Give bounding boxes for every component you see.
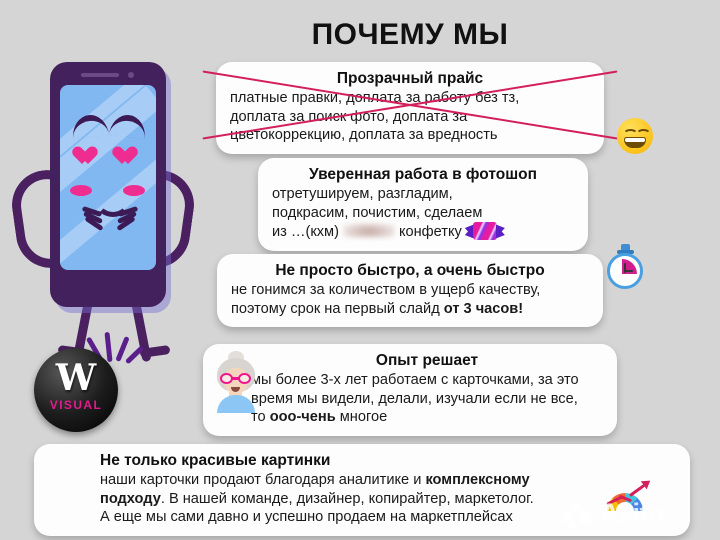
mascot-hand-left bbox=[82, 207, 108, 231]
benefit-card-speed[interactable]: Не просто быстро, а очень быстро не гони… bbox=[217, 254, 603, 327]
card-heading: Не просто быстро, а очень быстро bbox=[231, 261, 589, 280]
card-line-suffix: конфетку bbox=[399, 224, 462, 240]
phone-screen bbox=[60, 85, 156, 270]
old-woman-icon bbox=[213, 354, 259, 410]
card-line: время мы видели, делали, изучали если не… bbox=[251, 390, 603, 409]
mascot-smartphone-character bbox=[18, 52, 218, 352]
card-line: цветокоррекцию, доплата за вредность bbox=[230, 126, 590, 145]
censored-blur-icon bbox=[343, 223, 395, 238]
card-heading: Опыт решает bbox=[251, 351, 603, 370]
card-line-plain: . В нашей команде, дизайнер, копирайтер,… bbox=[161, 491, 534, 507]
card-line: наши карточки продают благодаря аналитик… bbox=[100, 471, 676, 490]
card-line-plain: поэтому срок на первый слайд bbox=[231, 301, 444, 317]
card-line-suffix: многое bbox=[336, 409, 388, 425]
infographic-stage: ПОЧЕМУ МЫ bbox=[0, 0, 720, 540]
card-line-prefix: из …(кхм) bbox=[272, 224, 339, 240]
card-line: поэтому срок на первый слайд от 3 часов! bbox=[231, 300, 589, 319]
avito-wordmark: Avito bbox=[600, 498, 664, 529]
card-line: платные правки, доплата за работу без тз… bbox=[230, 89, 590, 108]
heart-eye-icon bbox=[77, 147, 98, 166]
card-line: не гонимся за количеством в ущерб качест… bbox=[231, 281, 589, 300]
benefit-card-photoshop[interactable]: Уверенная работа в фотошоп отретушируем,… bbox=[258, 158, 588, 251]
mascot-phone-body bbox=[50, 62, 166, 307]
page-title: ПОЧЕМУ МЫ bbox=[250, 18, 570, 52]
card-heading: Прозрачный прайс bbox=[230, 69, 590, 88]
card-line: подкрасим, почистим, сделаем bbox=[272, 204, 574, 223]
card-line: мы более 3-х лет работаем с карточками, … bbox=[251, 371, 603, 390]
logo-monogram: W bbox=[34, 360, 118, 396]
card-line-plain: наши карточки продают благодаря аналитик… bbox=[100, 472, 425, 488]
card-heading: Не только красивые картинки bbox=[100, 451, 676, 470]
candy-icon bbox=[465, 222, 505, 240]
card-line: доплата за поиск фото, доплата за bbox=[230, 108, 590, 127]
card-line-highlight: от 3 часов! bbox=[444, 301, 523, 317]
heart-eye-icon bbox=[117, 147, 138, 166]
phone-camera-dot bbox=[128, 72, 134, 78]
benefit-card-transparent-price[interactable]: Прозрачный прайс платные правки, доплата… bbox=[216, 62, 604, 154]
card-heading: Уверенная работа в фотошоп bbox=[272, 165, 574, 184]
card-line-highlight: подходу bbox=[100, 491, 161, 507]
mascot-blush-left bbox=[70, 185, 92, 196]
card-line-censored: из …(кхм)конфетку bbox=[272, 222, 574, 242]
brand-logo-badge[interactable]: W VISUAL bbox=[34, 348, 118, 432]
logo-wordmark: VISUAL bbox=[34, 398, 118, 412]
stopwatch-icon bbox=[605, 244, 645, 290]
card-line: отретушируем, разгладим, bbox=[272, 185, 574, 204]
mascot-hand-right bbox=[112, 207, 138, 231]
avito-watermark: Avito bbox=[562, 496, 712, 536]
phone-speaker bbox=[81, 73, 119, 77]
card-line-highlight: ооо-чень bbox=[270, 409, 336, 425]
avito-dots-icon bbox=[562, 502, 602, 530]
benefit-card-experience[interactable]: Опыт решает мы более 3-х лет работаем с … bbox=[203, 344, 617, 436]
card-line-highlight: комплексному bbox=[425, 472, 529, 488]
card-line: то ооо-чень многое bbox=[251, 408, 603, 427]
grinning-face-icon bbox=[617, 118, 653, 154]
